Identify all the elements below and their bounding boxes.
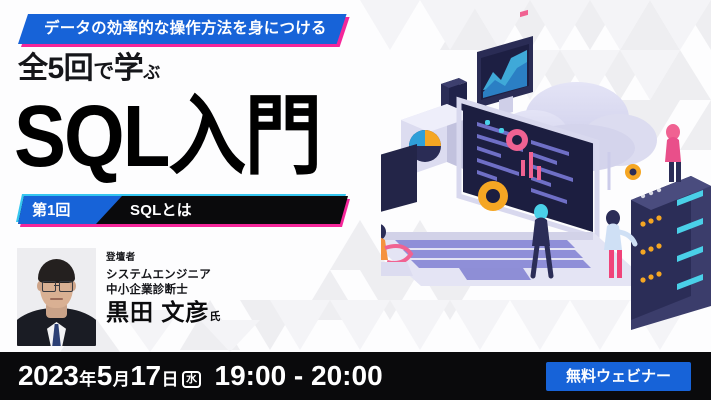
page-title: SQL入門 [14,92,320,179]
speaker-name: 黒田 文彦 [106,299,209,325]
event-year-unit: 年 [79,371,96,388]
event-day-unit: 日 [162,371,179,388]
photo-mouth [50,298,63,300]
subhead-tail: ぶ [143,63,160,82]
event-time-range: 19:00 - 20:00 [215,362,383,390]
tagline-banner: データの効率的な操作方法を身につける [18,14,347,44]
event-month: 5 [97,362,112,390]
episode-bar: 第1回 SQLとは [18,196,348,224]
speaker-qualification-1: システムエンジニア [106,268,220,283]
server-rack [631,176,711,330]
event-day: 17 [130,362,160,390]
banner-body: データの効率的な操作方法を身につける [18,14,347,44]
speaker-photo [17,248,96,346]
subhead-particle: で [93,60,114,83]
event-year: 2023 [18,362,78,390]
episode-number-label: 第1回 [32,203,70,218]
webinar-poster: データの効率的な操作方法を身につける 全5回で学ぶ SQL入門 第1回 SQLと… [0,0,711,400]
desk-lamp [625,164,641,180]
speaker-name-row: 黒田 文彦氏 [106,300,220,325]
banner-text: データの効率的な操作方法を身につける [44,21,327,37]
isometric-data-cloud-illustration [381,0,711,352]
speaker-block: 登壇者 システムエンジニア 中小企業診断士 黒田 文彦氏 [17,248,220,346]
free-webinar-badge[interactable]: 無料ウェビナー [546,362,691,391]
event-day-of-week: 水 [182,371,201,388]
person-on-rack [665,124,681,182]
glasses-lens-left-icon [42,281,56,292]
subhead-prefix: 全5回 [18,52,93,85]
sub-headline: 全5回で学ぶ [18,54,160,84]
speaker-name-suffix: 氏 [209,311,220,323]
episode-bar-body: 第1回 SQLとは [18,196,348,224]
glasses-lens-right-icon [59,281,73,292]
episode-number-chip: 第1回 [18,196,122,224]
speaker-role-label: 登壇者 [106,252,220,265]
episode-title: SQLとは [130,203,192,218]
event-month-unit: 月 [113,371,130,388]
speaker-text: 登壇者 システムエンジニア 中小企業診断士 黒田 文彦氏 [106,248,220,346]
event-datetime: 2023年5月17日水19:00 - 20:00 [18,362,383,391]
wall-monitor-chart [477,10,533,116]
glasses-bridge-icon [54,285,59,286]
desktop-monitor [381,144,417,228]
footer-bar: 2023年5月17日水19:00 - 20:00 無料ウェビナー [0,352,711,400]
subhead-verb: 学 [114,52,144,85]
speaker-qualification-2: 中小企業診断士 [106,283,220,298]
